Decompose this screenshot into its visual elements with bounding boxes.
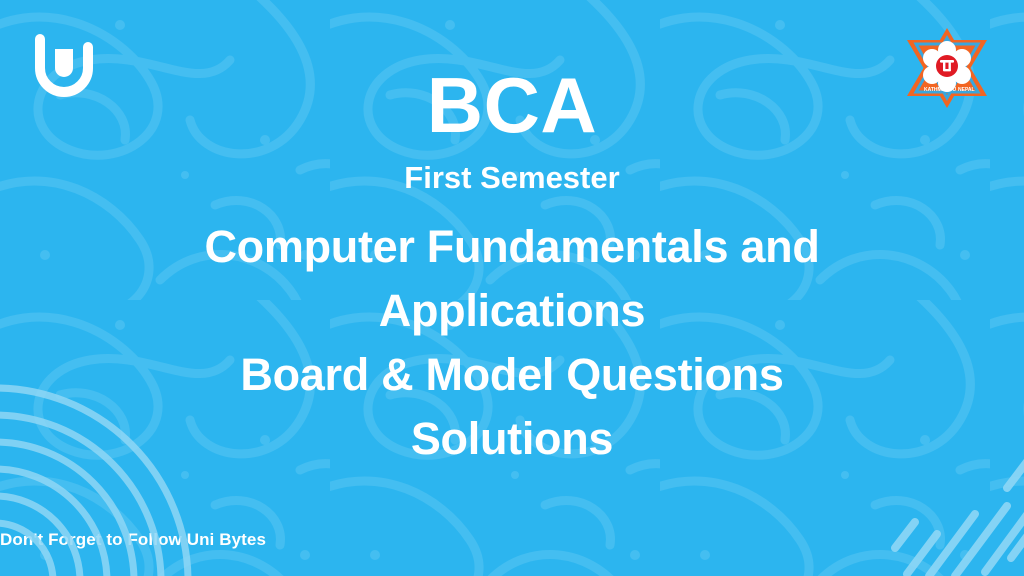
subject-title: Computer Fundamentals and Applications <box>204 215 819 343</box>
subject-title-line-2: Applications <box>204 279 819 343</box>
subject-title-line-1: Computer Fundamentals and <box>204 215 819 279</box>
emblem-location-right: NEPAL <box>958 87 975 93</box>
tribhuvan-university-emblem-icon: KATHMANDU NEPAL <box>902 22 992 114</box>
emblem-location-left: KATHMANDU <box>924 87 957 93</box>
course-code-heading: BCA <box>427 66 598 144</box>
document-type-title: Board & Model Questions Solutions <box>240 343 783 471</box>
unibytes-u-logo-icon <box>31 27 97 99</box>
document-type-line-1: Board & Model Questions <box>240 343 783 407</box>
document-type-line-2: Solutions <box>240 407 783 471</box>
semester-label: First Semester <box>404 162 619 193</box>
title-slide: KATHMANDU NEPAL BCA First Semester Compu… <box>0 0 1024 576</box>
slide-content: BCA First Semester Computer Fundamentals… <box>0 0 1024 576</box>
